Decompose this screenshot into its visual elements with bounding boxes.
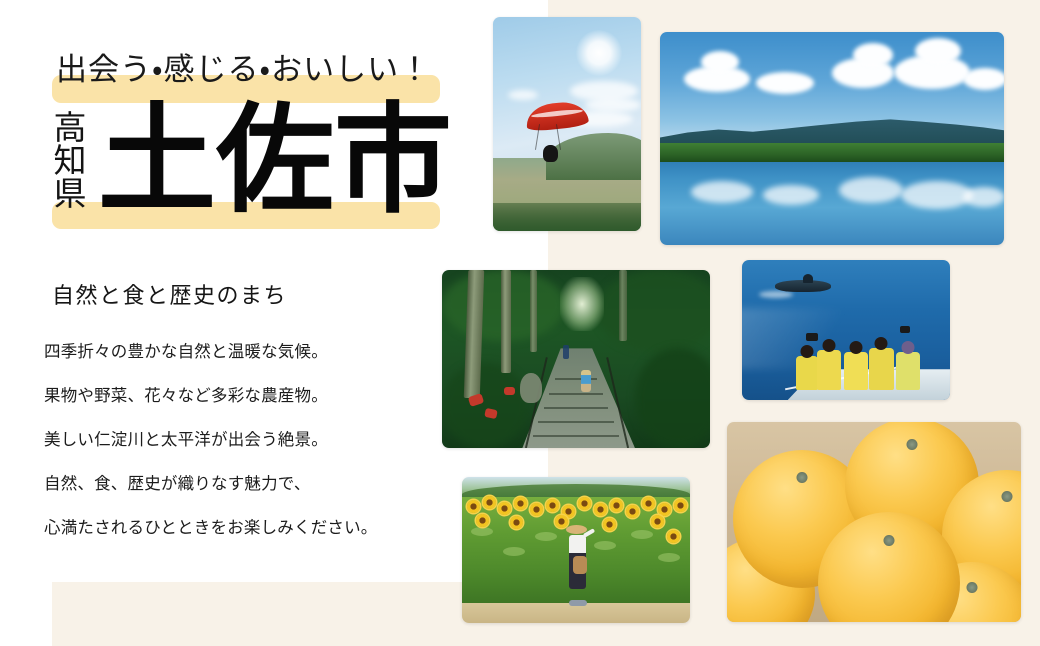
backpack-icon: [573, 556, 587, 574]
paraglider-pilot: [543, 145, 558, 162]
boat-passenger: [817, 350, 841, 390]
boat-passenger: [844, 352, 868, 390]
intro-line: 心満たされるひとときをお楽しみください。: [44, 514, 444, 538]
camera-icon: [806, 333, 818, 341]
page-title: 土佐市: [98, 98, 452, 222]
sun-glow-icon: [576, 30, 622, 76]
photo-river-reflection: [660, 32, 1004, 245]
photo-forest-bridge: [442, 270, 710, 448]
photo-sunflower-field: [462, 477, 690, 623]
photo-whale-watching: [742, 260, 950, 400]
boat-passenger: [796, 356, 818, 390]
boat-passenger: [896, 352, 920, 390]
camera-icon: [900, 326, 910, 333]
whale-icon: [775, 280, 831, 292]
intro-paragraphs: 四季折々の豊かな自然と温暖な気候。 果物や野菜、花々など多彩な農産物。 美しい仁…: [44, 338, 444, 538]
photo-paraglider: [493, 17, 641, 231]
headline-block: 出会う・感じる・おいしい！ 高知県 土佐市: [46, 46, 466, 246]
photo-citrus-fruit: [727, 422, 1021, 622]
tagline: 出会う・感じる・おいしい！: [56, 51, 431, 89]
prefecture-label: 高知県: [48, 110, 87, 230]
bridge-walker: [581, 370, 591, 392]
subtitle: 自然と食と歴史のまち: [52, 278, 287, 310]
intro-line: 美しい仁淀川と太平洋が出会う絶景。: [44, 426, 444, 450]
intro-line: 果物や野菜、花々など多彩な農産物。: [44, 382, 444, 406]
boat-passenger: [869, 348, 894, 390]
straw-hat-icon: [566, 525, 587, 534]
intro-line: 自然、食、歴史が織りなす魅力で、: [44, 470, 444, 494]
poster-canvas: 出会う・感じる・おいしい！ 高知県 土佐市 自然と食と歴史のまち 四季折々の豊か…: [0, 0, 1040, 646]
intro-line: 四季折々の豊かな自然と温暖な気候。: [44, 338, 444, 362]
